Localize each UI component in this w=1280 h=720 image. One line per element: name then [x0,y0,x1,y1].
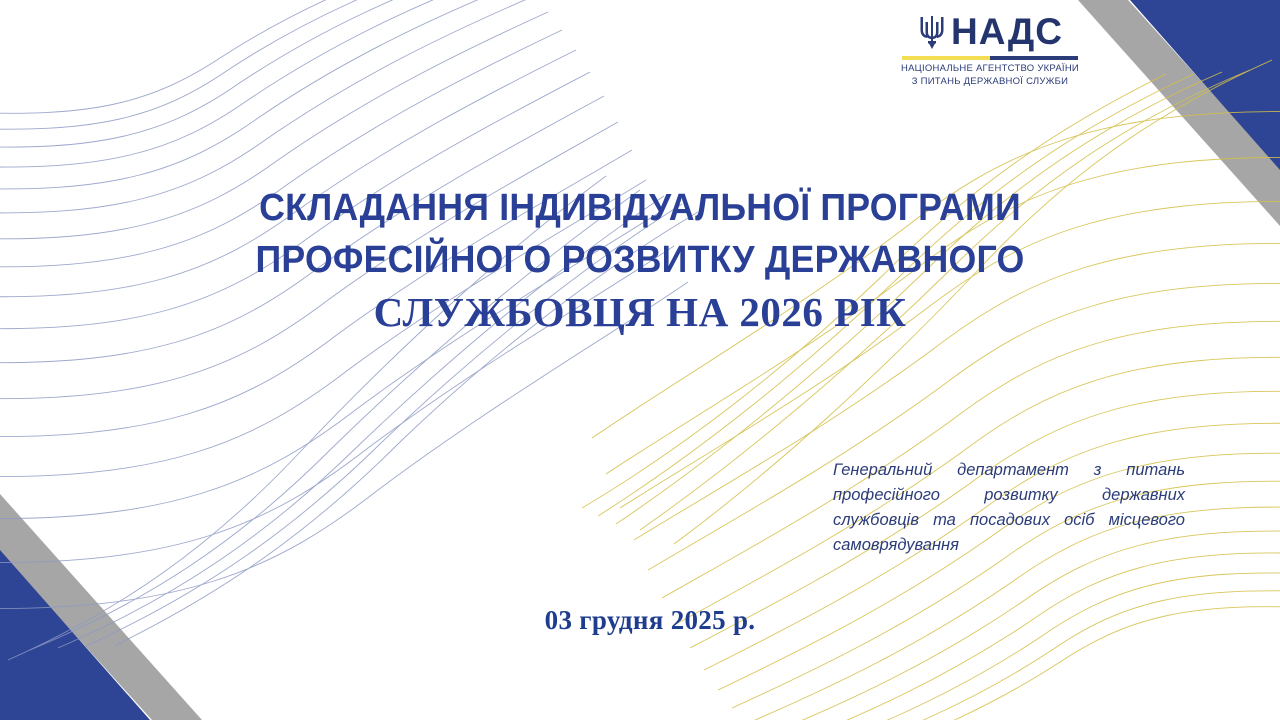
slide-title: СКЛАДАННЯ ІНДИВІДУАЛЬНОЇ ПРОГРАМИ ПРОФЕС… [120,182,1160,338]
logo-subtitle-line-1: НАЦІОНАЛЬНЕ АГЕНТСТВО УКРАЇНИ [898,63,1082,76]
logo-acronym: НАДС [951,12,1063,52]
logo-row: НАДС [898,10,1082,54]
bottom-left-grey-stripe [0,494,202,720]
slide-date: 03 грудня 2025 р. [340,605,960,636]
top-right-blue-wedge [1130,0,1280,170]
logo-divider-rule [902,56,1078,60]
title-line-1: СКЛАДАННЯ ІНДИВІДУАЛЬНОЇ ПРОГРАМИ [151,182,1129,234]
title-line-2: ПРОФЕСІЙНОГО РОЗВИТКУ ДЕРЖАВНОГО [151,234,1129,286]
logo-subtitle-line-2: З ПИТАНЬ ДЕРЖАВНОЇ СЛУЖБИ [898,76,1082,89]
logo-rule-blue [990,56,1078,60]
presentation-slide: НАДС НАЦІОНАЛЬНЕ АГЕНТСТВО УКРАЇНИ З ПИТ… [0,0,1280,720]
logo-rule-yellow [902,56,990,60]
bottom-left-blue-wedge [0,550,150,720]
title-line-3: СЛУЖБОВЦЯ НА 2026 РІК [120,286,1160,338]
nads-logo: НАДС НАЦІОНАЛЬНЕ АГЕНТСТВО УКРАЇНИ З ПИТ… [898,10,1082,88]
department-text: Генеральний департамент з питань професі… [833,458,1185,583]
ukraine-tryzub-icon [917,12,947,52]
